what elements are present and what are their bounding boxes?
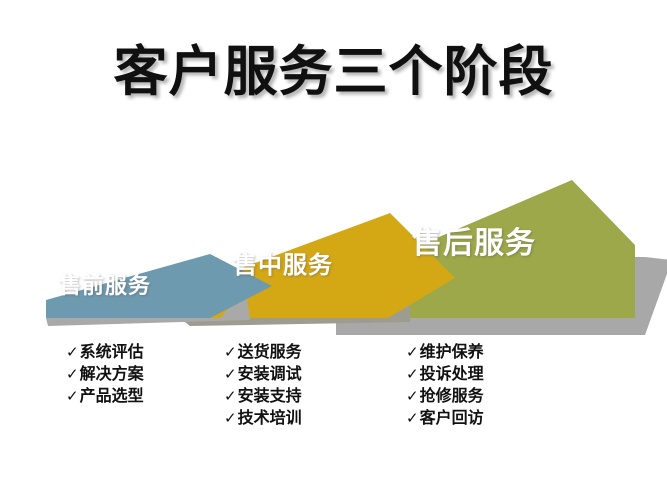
list-item-label: 产品选型 xyxy=(80,386,144,405)
list-item: ✓送货服务 xyxy=(224,341,302,363)
check-icon: ✓ xyxy=(406,409,420,427)
list-item-label: 投诉处理 xyxy=(420,364,484,383)
list-item-label: 送货服务 xyxy=(238,342,302,361)
list-item-label: 解决方案 xyxy=(80,364,144,383)
list-item: ✓安装支持 xyxy=(224,385,302,407)
bullet-column-during-sales: ✓送货服务 ✓安装调试 ✓安装支持 ✓技术培训 xyxy=(224,341,302,429)
list-item: ✓系统评估 xyxy=(66,341,144,363)
check-icon: ✓ xyxy=(66,387,80,405)
check-icon: ✓ xyxy=(406,343,420,361)
list-item: ✓产品选型 xyxy=(66,385,144,407)
check-icon: ✓ xyxy=(224,365,238,383)
list-item-label: 系统评估 xyxy=(80,342,144,361)
bullet-column-pre-sales: ✓系统评估 ✓解决方案 ✓产品选型 xyxy=(66,341,144,407)
chevron-svg xyxy=(0,150,667,340)
list-item-label: 技术培训 xyxy=(238,408,302,427)
list-item: ✓抢修服务 xyxy=(406,385,484,407)
list-item-label: 安装调试 xyxy=(238,364,302,383)
check-icon: ✓ xyxy=(66,343,80,361)
check-icon: ✓ xyxy=(406,387,420,405)
list-item-label: 安装支持 xyxy=(238,386,302,405)
list-item: ✓技术培训 xyxy=(224,407,302,429)
chevron-process-diagram: 售前服务 售中服务 售后服务 xyxy=(0,150,667,340)
bullet-columns: ✓系统评估 ✓解决方案 ✓产品选型 ✓送货服务 ✓安装调试 ✓安装支持 ✓技术培… xyxy=(0,341,667,461)
stage-label-pre-sales: 售前服务 xyxy=(59,268,151,300)
page-title: 客户服务三个阶段 xyxy=(0,44,667,101)
list-item: ✓维护保养 xyxy=(406,341,484,363)
list-item-label: 维护保养 xyxy=(420,342,484,361)
list-item-label: 客户回访 xyxy=(420,408,484,427)
list-item: ✓客户回访 xyxy=(406,407,484,429)
check-icon: ✓ xyxy=(224,343,238,361)
list-item: ✓安装调试 xyxy=(224,363,302,385)
list-item-label: 抢修服务 xyxy=(420,386,484,405)
check-icon: ✓ xyxy=(224,409,238,427)
stage-label-during-sales: 售中服务 xyxy=(233,245,333,280)
check-icon: ✓ xyxy=(406,365,420,383)
check-icon: ✓ xyxy=(224,387,238,405)
list-item: ✓投诉处理 xyxy=(406,363,484,385)
bullet-column-after-sales: ✓维护保养 ✓投诉处理 ✓抢修服务 ✓客户回访 xyxy=(406,341,484,429)
stage-label-after-sales: 售后服务 xyxy=(412,218,536,262)
check-icon: ✓ xyxy=(66,365,80,383)
list-item: ✓解决方案 xyxy=(66,363,144,385)
slide-canvas: 客户服务三个阶段 售前服务 售中服务 售后服务 xyxy=(0,0,667,500)
